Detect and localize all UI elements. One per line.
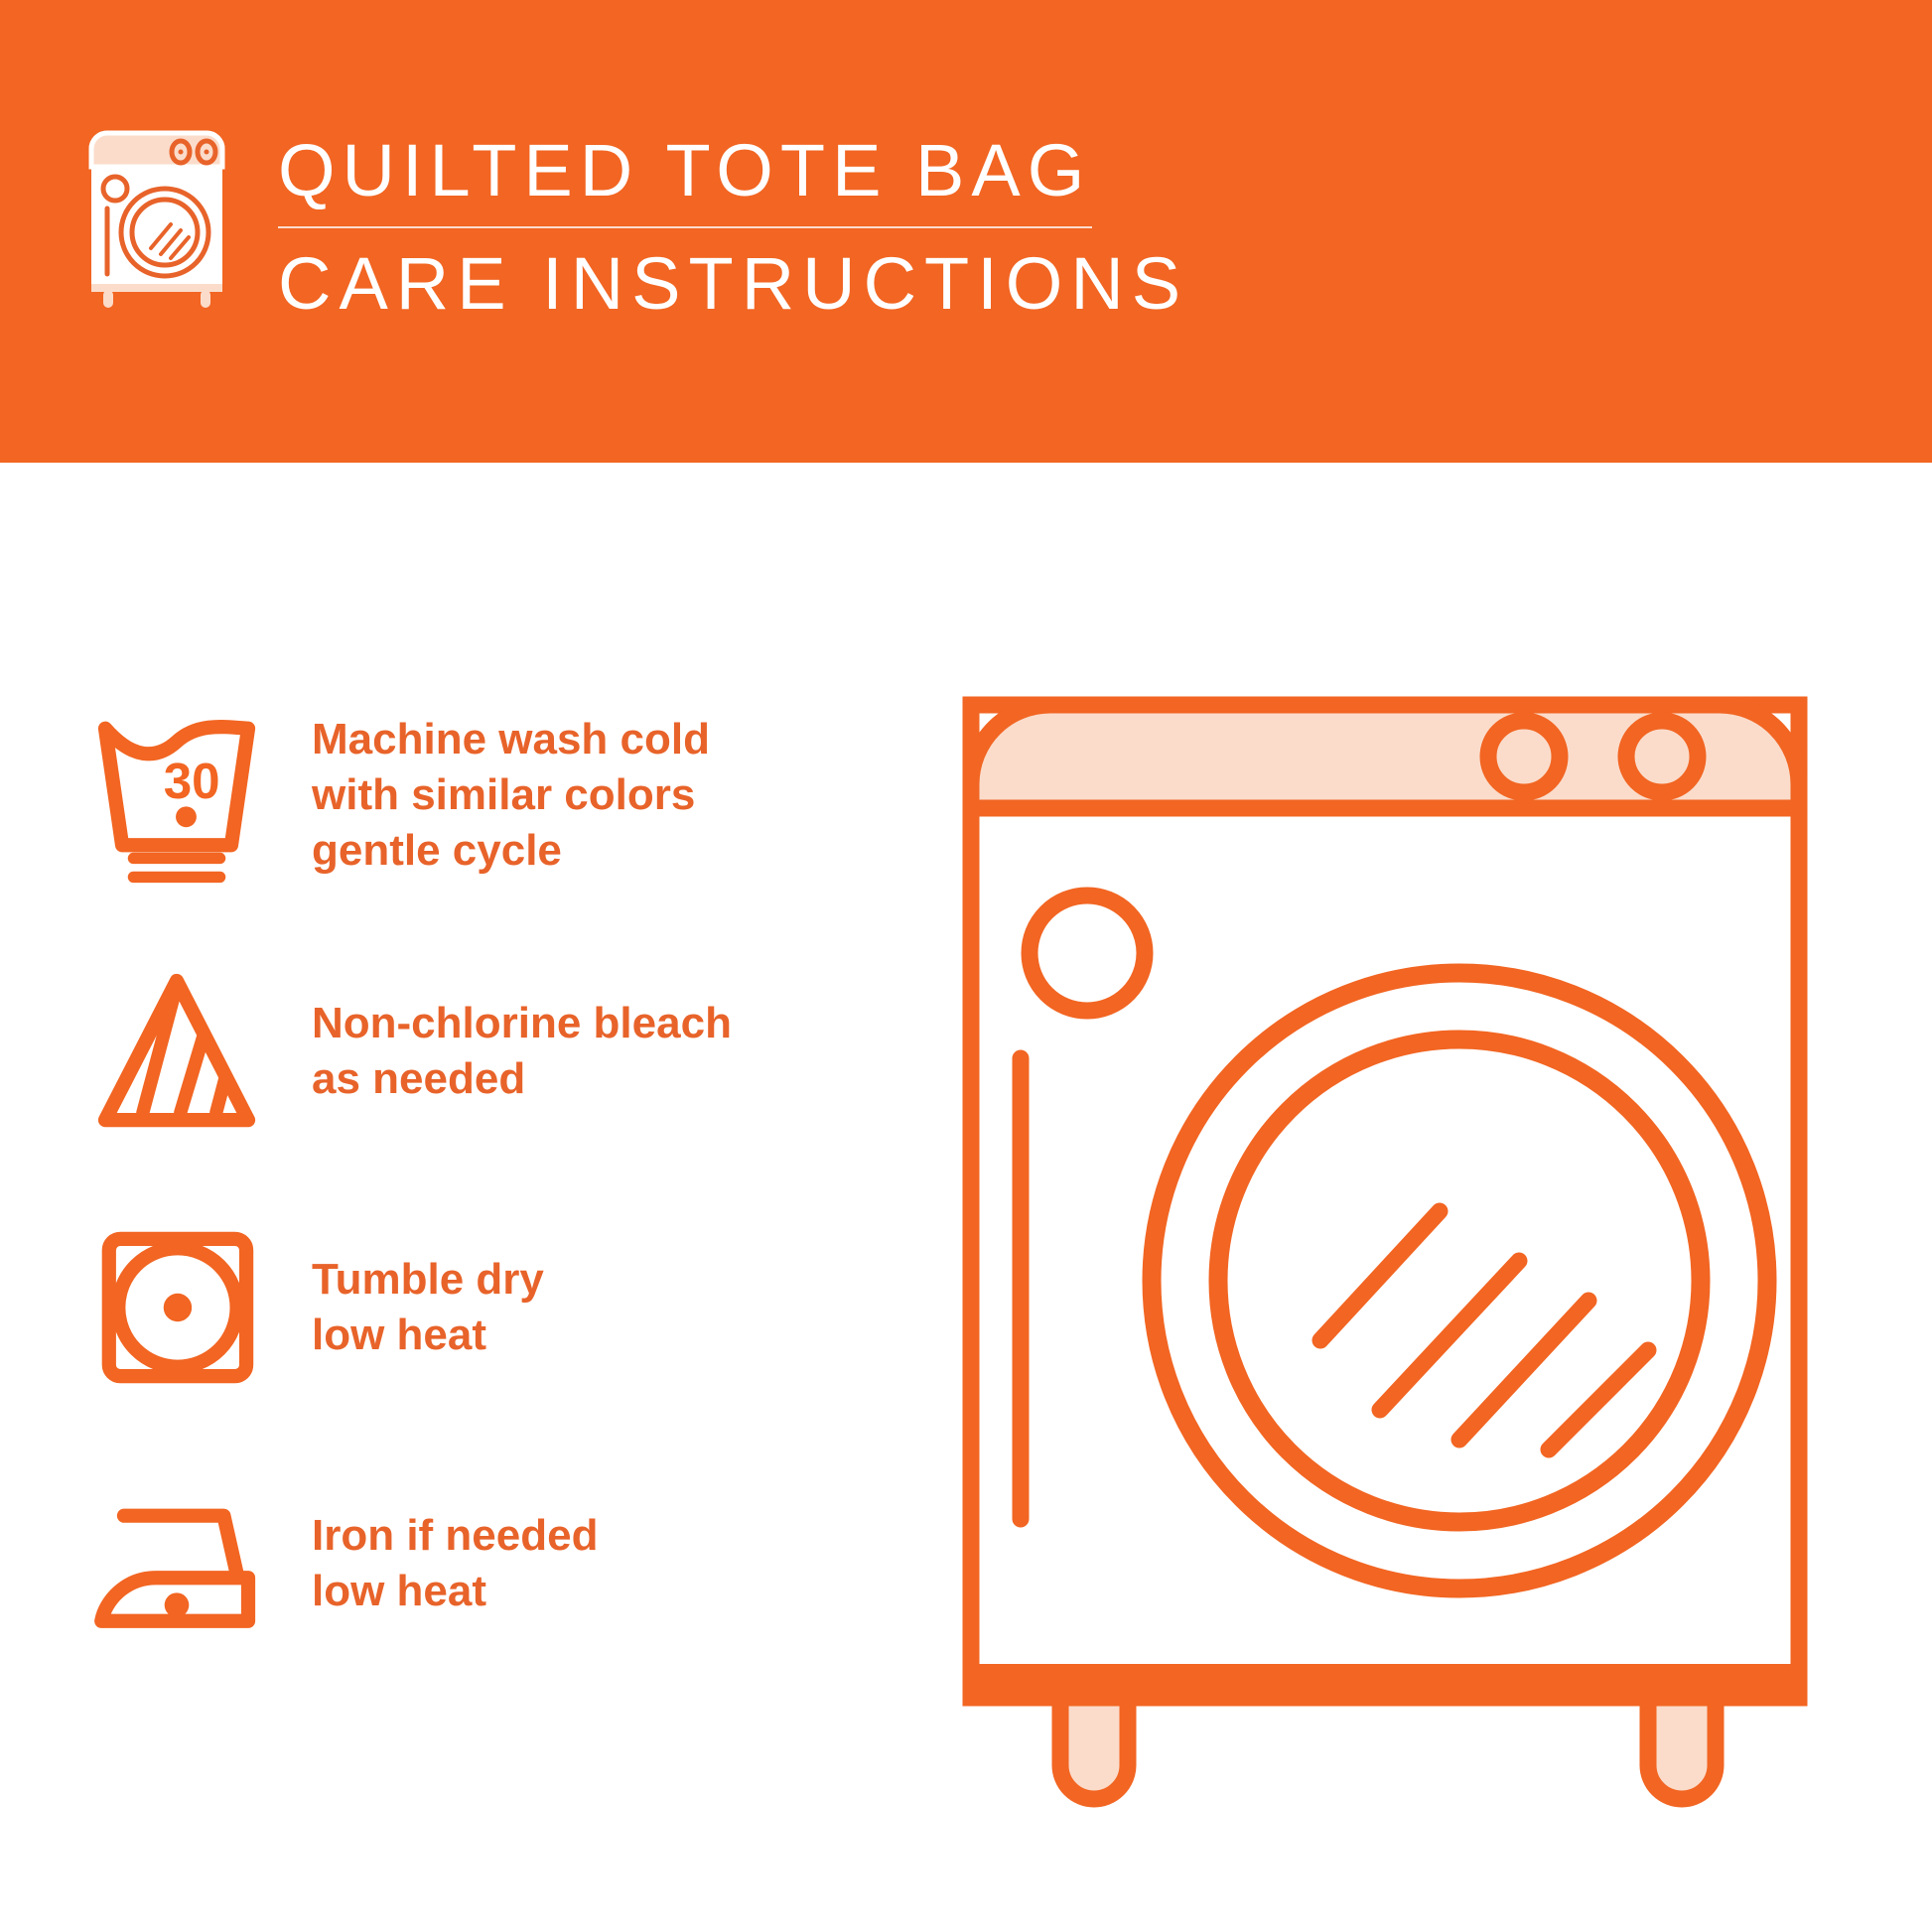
care-row-tumble-dry: Tumble dry low heat <box>77 1179 901 1436</box>
machine-knob-right <box>1626 721 1698 792</box>
non-chlorine-bleach-triangle-icon <box>77 962 276 1141</box>
care-label-tumble-dry: Tumble dry low heat <box>312 1252 544 1363</box>
header-banner: QUILTED TOTE BAG CARE INSTRUCTIONS <box>0 0 1932 463</box>
front-load-washing-machine-illustration <box>953 625 1866 1857</box>
wash-tub-30-icon: 30 <box>77 706 276 885</box>
care-label-machine-wash: Machine wash cold with similar colors ge… <box>312 712 710 879</box>
machine-leg-left <box>1060 1698 1128 1799</box>
header-content: QUILTED TOTE BAG CARE INSTRUCTIONS <box>77 125 1188 326</box>
machine-knob-left <box>1488 721 1560 792</box>
washing-machine-icon <box>77 125 236 310</box>
tumble-dry-low-icon <box>77 1218 276 1397</box>
iron-low-heat-icon <box>77 1474 276 1653</box>
care-row-bleach: Non-chlorine bleach as needed <box>77 923 901 1179</box>
care-instruction-list: 30 Machine wash cold with similar colors… <box>77 667 901 1692</box>
machine-leg-right <box>1648 1698 1716 1799</box>
care-row-machine-wash: 30 Machine wash cold with similar colors… <box>77 667 901 923</box>
care-row-iron: Iron if needed low heat <box>77 1436 901 1692</box>
care-label-iron: Iron if needed low heat <box>312 1508 598 1619</box>
title-divider <box>278 226 1092 228</box>
wash-temperature-label: 30 <box>164 753 220 809</box>
page-subtitle: CARE INSTRUCTIONS <box>278 242 1188 326</box>
care-label-bleach: Non-chlorine bleach as needed <box>312 996 732 1107</box>
page-title: QUILTED TOTE BAG <box>278 129 1188 212</box>
header-title-group: QUILTED TOTE BAG CARE INSTRUCTIONS <box>278 125 1188 326</box>
